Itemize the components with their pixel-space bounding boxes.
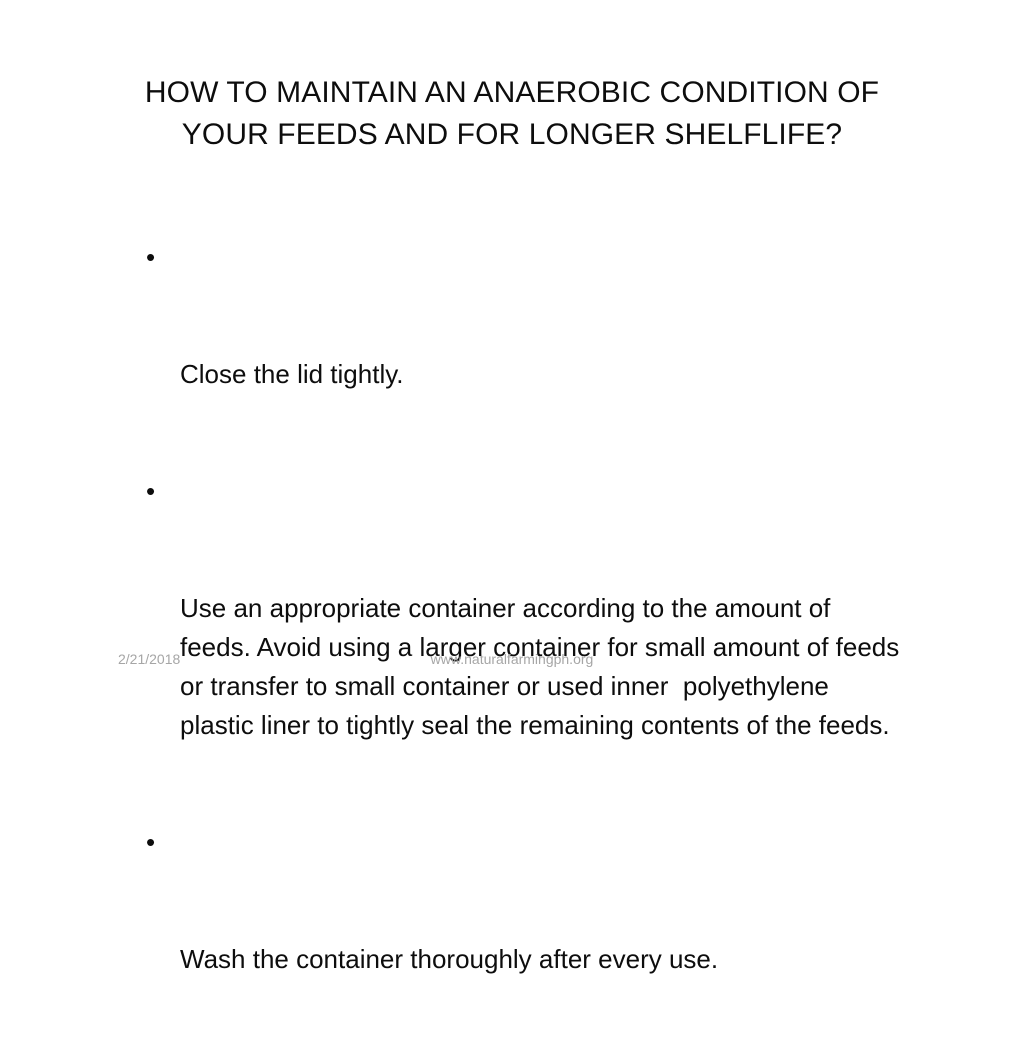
list-item-text: Wash the container thoroughly after ever… [180,940,900,979]
list-item: • Wash the container thoroughly after ev… [140,823,900,1057]
page-title: HOW TO MAINTAIN AN ANAEROBIC CONDITION O… [92,72,932,156]
bullet-dot-icon: • [146,238,166,277]
list-item-text: Close the lid tightly. [180,355,900,394]
footer-url: www.naturalfarmingph.org [0,650,1024,668]
bullet-list: • Close the lid tightly. • Use an approp… [140,238,900,1057]
page-title-line-2: YOUR FEEDS AND FOR LONGER SHELFLIFE? [92,114,932,156]
bullet-dot-icon: • [146,472,166,511]
slide-canvas: HOW TO MAINTAIN AN ANAEROBIC CONDITION O… [0,0,1024,724]
bullet-dot-icon: • [146,823,166,862]
page-title-line-1: HOW TO MAINTAIN AN ANAEROBIC CONDITION O… [92,72,932,114]
list-item: • Use an appropriate container according… [140,472,900,823]
list-item: • Close the lid tightly. [140,238,900,472]
